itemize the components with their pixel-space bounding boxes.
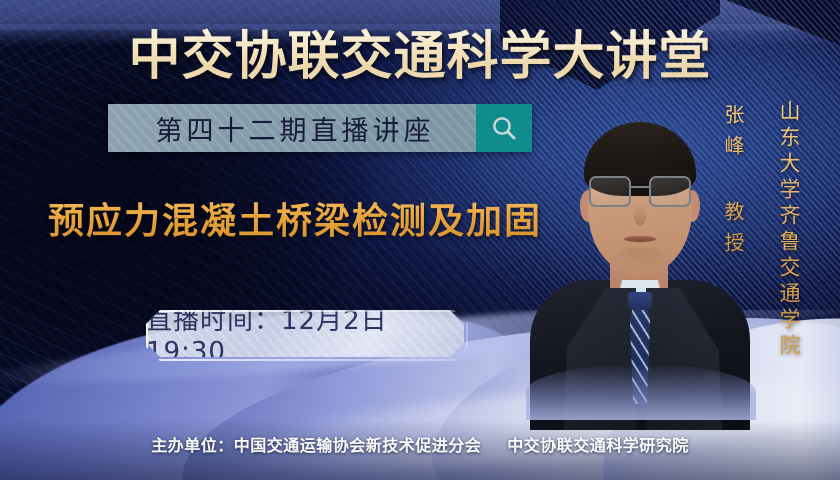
search-button[interactable] <box>476 104 532 152</box>
episode-bar-label: 第四十二期直播讲座 <box>108 104 476 152</box>
schedule-label: 直播时间：12月2日19:30 <box>146 300 464 367</box>
episode-bar[interactable]: 第四十二期直播讲座 <box>108 104 532 152</box>
portrait-glasses-lens-left <box>589 176 631 207</box>
portrait-glasses-bridge <box>629 186 651 188</box>
footer-organizers: 主办单位：中国交通运输协会新技术促进分会中交协联交通科学研究院 <box>0 432 840 456</box>
portrait-bottom-fade <box>526 364 756 420</box>
page-title: 中交协联交通科学大讲堂 <box>128 14 711 89</box>
portrait-glasses <box>588 176 692 204</box>
portrait-glasses-lens-right <box>649 176 691 207</box>
search-icon <box>490 114 518 142</box>
portrait-nose <box>634 204 646 226</box>
footer-organizer-primary: 主办单位：中国交通运输协会新技术促进分会 <box>151 432 481 456</box>
live-lecture-poster: 中交协联交通科学大讲堂 第四十二期直播讲座 预应力混凝土桥梁检测及加固 直播时间… <box>0 0 840 480</box>
schedule-pill: 直播时间：12月2日19:30 <box>146 310 464 357</box>
portrait-necktie-knot <box>628 292 652 310</box>
speaker-portrait <box>536 112 744 412</box>
speaker-organization: 山东大学齐鲁交通学院 <box>774 100 804 360</box>
speaker-name-title: 张峰 教授 <box>719 104 748 263</box>
lecture-topic: 预应力混凝土桥梁检测及加固 <box>48 192 542 244</box>
portrait-mouth <box>624 236 656 242</box>
portrait-chin-shade <box>610 248 670 268</box>
footer-organizer-secondary: 中交协联交通科学研究院 <box>507 432 689 456</box>
